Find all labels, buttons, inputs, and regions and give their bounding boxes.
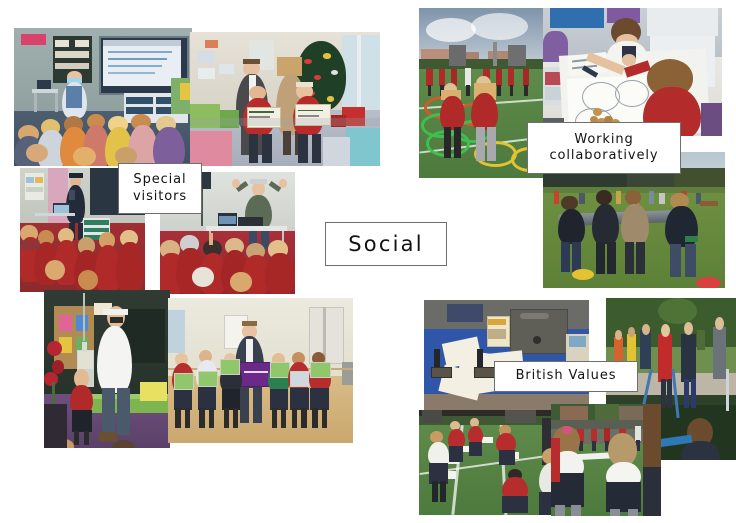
- photo-hall-award-group: [168, 298, 353, 443]
- label-working-collaboratively: Working collaboratively: [527, 122, 681, 174]
- label-special-visitors-line1: Special: [133, 172, 186, 188]
- page-title: Social: [348, 231, 423, 257]
- label-special-visitors-line2: visitors: [133, 189, 187, 205]
- label-working-collaboratively-line1: Working: [574, 132, 633, 148]
- page-title-card: Social: [325, 222, 447, 266]
- photo-circle-holding-hands: [551, 404, 661, 516]
- photo-astroturf-cards-activity: [419, 410, 562, 515]
- label-british-values-line1: British Values: [516, 368, 617, 384]
- photo-coins-table-work: [543, 8, 722, 136]
- label-british-values: British Values: [494, 361, 638, 392]
- collage-canvas: Special visitors Working collaboratively…: [0, 0, 736, 523]
- photo-field-hoops-activity: [419, 8, 543, 178]
- photo-ballot-box-voting: [424, 300, 589, 412]
- photo-classroom-nurse: [14, 28, 192, 166]
- label-special-visitors: Special visitors: [118, 163, 202, 214]
- photo-certificate-presentation: [190, 32, 380, 166]
- photo-science-demonstration: [44, 290, 170, 448]
- label-working-collaboratively-line2: collaboratively: [549, 148, 658, 164]
